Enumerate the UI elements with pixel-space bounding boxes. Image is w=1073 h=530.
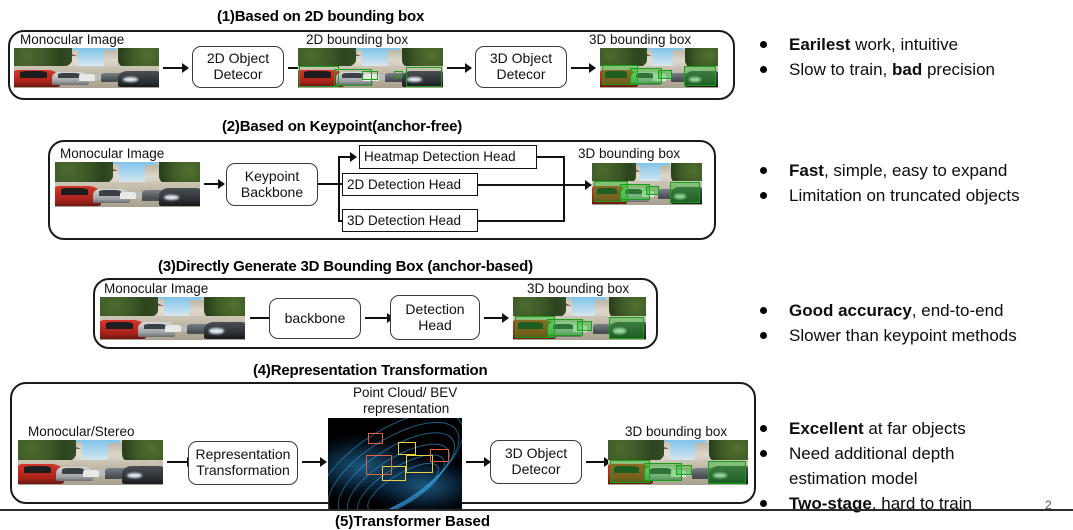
section-3-arrow-2 bbox=[365, 317, 393, 319]
bullet-item-continuation: estimation model bbox=[760, 466, 972, 491]
section-4-point-cloud-image bbox=[328, 418, 462, 510]
section-1-arrow-3 bbox=[447, 67, 471, 69]
bullet-dot-icon bbox=[760, 425, 767, 432]
bullet-item: Slow to train, bad precision bbox=[760, 57, 995, 82]
bullet-bold: Excellent bbox=[789, 419, 864, 438]
node-line-2: Head bbox=[418, 318, 451, 334]
section-3-title: (3)Directly Generate 3D Bounding Box (an… bbox=[158, 258, 533, 275]
section-1-bullets: Earilest work, intuitive Slow to train, … bbox=[760, 32, 995, 82]
section-3-input-caption: Monocular Image bbox=[104, 281, 208, 296]
section-4-input-image bbox=[18, 440, 163, 485]
section-3-output-caption: 3D bounding box bbox=[527, 281, 629, 296]
section-4-arrow-2 bbox=[302, 461, 326, 463]
section-2-output-caption: 3D bounding box bbox=[578, 146, 680, 161]
section-2-arrow-out bbox=[563, 184, 591, 186]
section-1-mid-caption: 2D bounding box bbox=[306, 32, 408, 47]
section-2-head-heatmap: Heatmap Detection Head bbox=[359, 145, 537, 169]
bullet-item: Good accuracy, end-to-end bbox=[760, 298, 1017, 323]
bullet-rest: , end-to-end bbox=[912, 301, 1004, 320]
section-2-input-image bbox=[55, 162, 200, 207]
node-line-2: Backbone bbox=[241, 185, 303, 201]
section-2-bullets: Fast, simple, easy to expand Limitation … bbox=[760, 158, 1020, 208]
bullet-bold: Fast bbox=[789, 161, 824, 180]
next-section-title-clipped: (5)Transformer Based bbox=[335, 513, 490, 530]
bullet-pre: Need additional depth bbox=[789, 444, 954, 463]
node-line-1: backbone bbox=[285, 311, 346, 327]
head-label: 3D Detection Head bbox=[347, 213, 461, 228]
section-2-title: (2)Based on Keypoint(anchor-free) bbox=[222, 118, 462, 135]
section-1-arrow-4 bbox=[571, 67, 595, 69]
section-2-fanout-spine bbox=[338, 156, 340, 222]
section-2-merge-2 bbox=[478, 184, 563, 186]
section-2-merge-spine bbox=[563, 156, 565, 222]
bullet-pre: Slower than keypoint methods bbox=[789, 326, 1017, 345]
slide-canvas: (1)Based on 2D bounding box Monocular Im… bbox=[0, 0, 1073, 521]
bullet-pre: Limitation on truncated objects bbox=[789, 186, 1020, 205]
section-2-arrow-1 bbox=[204, 183, 224, 185]
section-3-bullets: Good accuracy, end-to-end Slower than ke… bbox=[760, 298, 1017, 348]
section-3-node-detection-head: Detection Head bbox=[390, 295, 480, 340]
section-1-output-image bbox=[600, 48, 718, 88]
node-line-2: Transformation bbox=[196, 463, 290, 479]
section-1-input-image bbox=[14, 48, 159, 88]
section-1-node-3d-detector: 3D Object Detecor bbox=[475, 46, 567, 88]
section-4-output-image bbox=[608, 440, 748, 485]
head-label: Heatmap Detection Head bbox=[364, 149, 516, 164]
bullet-rest: , simple, easy to expand bbox=[824, 161, 1007, 180]
section-1-arrow-1 bbox=[163, 67, 188, 69]
bullet-bold: bad bbox=[892, 60, 922, 79]
head-label: 2D Detection Head bbox=[347, 177, 461, 192]
section-1-input-caption: Monocular Image bbox=[20, 32, 124, 47]
section-1-title: (1)Based on 2D bounding box bbox=[217, 8, 424, 25]
bullet-item: Fast, simple, easy to expand bbox=[760, 158, 1020, 183]
node-line-1: 3D Object bbox=[505, 446, 567, 462]
section-2-arrow-head1 bbox=[338, 156, 356, 158]
bullet-dot-icon bbox=[760, 167, 767, 174]
section-2-output-image bbox=[592, 163, 702, 205]
bullet-dot-icon bbox=[760, 332, 767, 339]
section-2-fanout-stub bbox=[318, 183, 340, 185]
section-4-output-caption: 3D bounding box bbox=[625, 424, 727, 439]
bullet-item: Slower than keypoint methods bbox=[760, 323, 1017, 348]
section-4-mid-caption-line1: Point Cloud/ BEV bbox=[353, 385, 457, 400]
bullet-dot-icon bbox=[760, 41, 767, 48]
section-3-node-backbone: backbone bbox=[269, 298, 361, 339]
section-3-input-image bbox=[100, 297, 245, 340]
node-line-1: Keypoint bbox=[245, 169, 299, 185]
section-1-node-2d-detector: 2D Object Detecor bbox=[192, 46, 284, 88]
section-2-merge-3 bbox=[478, 220, 565, 222]
section-1-output-caption: 3D bounding box bbox=[589, 32, 691, 47]
bullet-pre: Slow to train, bbox=[789, 60, 892, 79]
bullet-rest: precision bbox=[922, 60, 995, 79]
section-4-input-caption: Monocular/Stereo bbox=[28, 424, 135, 439]
section-2-merge-1 bbox=[537, 156, 565, 158]
bullet-pre: estimation model bbox=[789, 469, 918, 488]
section-4-node-representation-transformation: Representation Transformation bbox=[188, 441, 298, 485]
section-2-head-3d: 3D Detection Head bbox=[342, 209, 478, 232]
node-line-2: Detecor bbox=[496, 67, 545, 83]
bullet-dot-icon bbox=[760, 66, 767, 73]
bullet-item: Excellent at far objects bbox=[760, 416, 972, 441]
section-3-arrow-3 bbox=[484, 317, 508, 319]
section-4-mid-caption-line2: representation bbox=[363, 401, 449, 416]
node-line-2: Detecor bbox=[213, 67, 262, 83]
node-line-1: 2D Object bbox=[207, 51, 269, 67]
bullet-rest: work, intuitive bbox=[850, 35, 958, 54]
node-line-1: 3D Object bbox=[490, 51, 552, 67]
section-2-input-caption: Monocular Image bbox=[60, 146, 164, 161]
node-line-1: Detection bbox=[405, 302, 464, 318]
bullet-dot-icon bbox=[760, 500, 767, 507]
bullet-bold: Earilest bbox=[789, 35, 850, 54]
bullet-dot-icon bbox=[760, 307, 767, 314]
section-4-node-3d-detector: 3D Object Detecor bbox=[490, 440, 582, 484]
section-4-arrow-4 bbox=[586, 461, 610, 463]
bullet-dot-icon bbox=[760, 450, 767, 457]
section-4-arrow-3 bbox=[466, 461, 490, 463]
bullet-dot-icon bbox=[760, 192, 767, 199]
section-2-head-2d: 2D Detection Head bbox=[342, 173, 478, 196]
bullet-item: Earilest work, intuitive bbox=[760, 32, 995, 57]
bullet-bold: Good accuracy bbox=[789, 301, 912, 320]
bottom-divider bbox=[0, 509, 1073, 511]
bullet-rest: at far objects bbox=[864, 419, 966, 438]
bullet-item: Limitation on truncated objects bbox=[760, 183, 1020, 208]
section-3-output-image bbox=[513, 297, 646, 340]
section-1-mid-image bbox=[298, 48, 443, 88]
section-4-bullets: Excellent at far objects Need additional… bbox=[760, 416, 972, 516]
node-line-2: Detecor bbox=[511, 462, 560, 478]
node-line-1: Representation bbox=[196, 447, 291, 463]
bullet-item: Need additional depth bbox=[760, 441, 972, 466]
section-4-title: (4)Representation Transformation bbox=[253, 362, 487, 379]
bullet-item: Two-stage, hard to train bbox=[760, 491, 972, 516]
section-2-node-keypoint-backbone: Keypoint Backbone bbox=[226, 163, 318, 206]
